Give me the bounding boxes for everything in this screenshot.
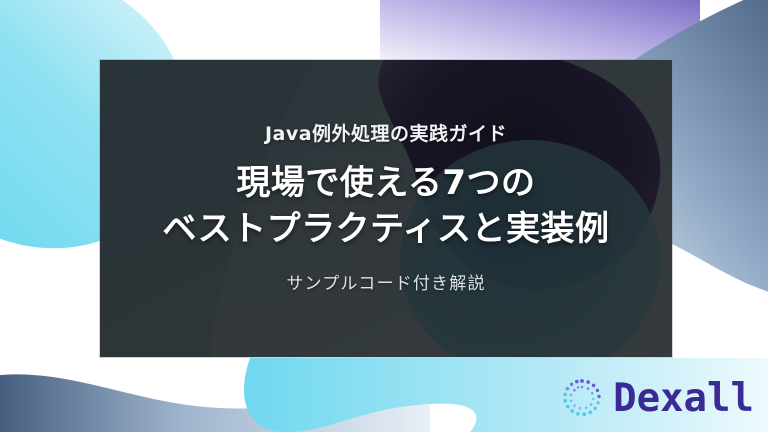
dotted-ring-dots xyxy=(563,379,600,416)
slide-canvas: Java例外処理の実践ガイド 現場で使える7つの ベストプラクティスと実装例 サ… xyxy=(0,0,768,432)
slide-eyebrow: Java例外処理の実践ガイド xyxy=(265,123,507,146)
content-card: Java例外処理の実践ガイド 現場で使える7つの ベストプラクティスと実装例 サ… xyxy=(100,60,672,357)
dotted-ring-icon xyxy=(557,374,607,424)
headline-line-2: ベストプラクティスと実装例 xyxy=(162,207,609,252)
brand-name: Dexall xyxy=(613,379,754,420)
slide-caption: サンプルコード付き解説 xyxy=(286,274,485,294)
brand-logo: Dexall xyxy=(557,374,754,424)
card-text-block: Java例外処理の実践ガイド 現場で使える7つの ベストプラクティスと実装例 サ… xyxy=(100,60,672,357)
headline-line-1: 現場で使える7つの xyxy=(162,161,609,206)
slide-headline: 現場で使える7つの ベストプラクティスと実装例 xyxy=(162,161,609,251)
